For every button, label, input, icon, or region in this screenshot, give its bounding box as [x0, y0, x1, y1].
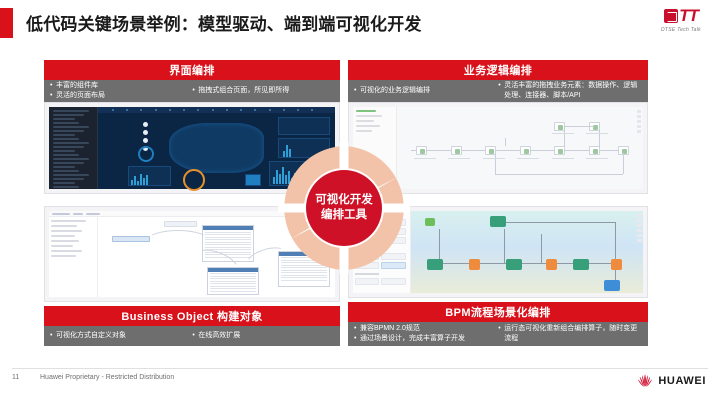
page-title: 低代码关键场景举例：模型驱动、端到端可视化开发 [26, 10, 422, 35]
huawei-wordmark: HUAWEI [658, 375, 706, 387]
bullet-text: 可视化方式自定义对象 [56, 331, 186, 341]
huawei-logo: HUAWEI [636, 374, 706, 388]
center-hub: 可视化开发 编排工具 [278, 142, 410, 274]
page-number: 11 [12, 374, 19, 381]
bullet-text: 可视化的业务逻辑编排 [360, 86, 492, 96]
dtt-logo-icon: TT [654, 6, 708, 26]
bullet-text: 拖拽式组合页面，所见即所得 [198, 86, 334, 96]
panel-bullets: •丰富的组件库 •灵活的页面布局 •拖拽式组合页面，所见即所得 [44, 80, 340, 102]
panel-header: Business Object 构建对象 [44, 306, 340, 326]
bullet-text: 灵活的页面布局 [56, 91, 186, 101]
dtt-square-icon [664, 9, 678, 23]
slide-canvas: 低代码关键场景举例：模型驱动、端到端可视化开发 TT DTSE Tech Tal… [0, 0, 720, 405]
bullet-text: 运行态可视化重新组合编排算子，随时变更流程 [504, 324, 642, 344]
panel-header: 界面编排 [44, 60, 340, 80]
bullet-text: 兼容BPMN 2.0规范 [360, 324, 492, 334]
hub-line-2: 编排工具 [321, 208, 367, 223]
bullet-text: 丰富的组件库 [56, 81, 186, 91]
footer-divider [12, 368, 708, 369]
dtt-subtitle: DTSE Tech Talk [654, 27, 708, 33]
bullet-text: 通过场景设计，完成丰富算子开发 [360, 334, 492, 344]
panel-header: 业务逻辑编排 [348, 60, 648, 80]
bullet-text: 灵活丰富的拖拽业务元素：数据操作、逻辑处理、连接器、脚本/API [504, 81, 642, 101]
hub-line-1: 可视化开发 [315, 193, 373, 208]
huawei-flower-icon [636, 374, 654, 388]
hub-core-label: 可视化开发 编排工具 [306, 170, 382, 246]
panel-bullets: •兼容BPMN 2.0规范 •通过场景设计，完成丰富算子开发 •运行态可视化重新… [348, 322, 648, 346]
panel-bullets: •可视化方式自定义对象 •在线高效扩展 [44, 326, 340, 346]
panel-bullets: •可视化的业务逻辑编排 •灵活丰富的拖拽业务元素：数据操作、逻辑处理、连接器、脚… [348, 80, 648, 102]
title-accent-bar [0, 8, 13, 38]
dtt-letters: TT [679, 7, 698, 25]
confidentiality-notice: Huawei Proprietary - Restricted Distribu… [40, 374, 174, 381]
dtt-logo: TT DTSE Tech Talk [654, 6, 708, 38]
bullet-text: 在线高效扩展 [198, 331, 334, 341]
panel-header: BPM流程场景化编排 [348, 302, 648, 322]
